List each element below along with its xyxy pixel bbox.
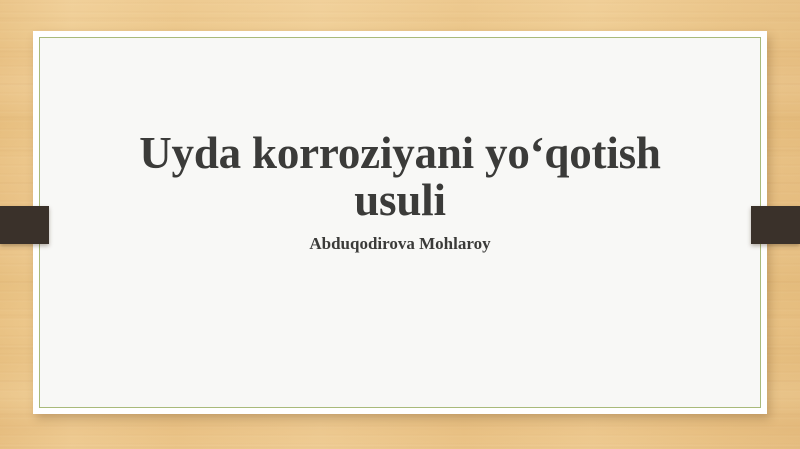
left-ribbon-tab bbox=[0, 206, 49, 244]
slide-content-card: Uyda korroziyani yoʻqotish usuli Abduqod… bbox=[33, 31, 767, 414]
page-title: Uyda korroziyani yoʻqotish usuli bbox=[100, 130, 700, 224]
presentation-slide: Uyda korroziyani yoʻqotish usuli Abduqod… bbox=[0, 0, 800, 449]
card-inner-border-frame: Uyda korroziyani yoʻqotish usuli Abduqod… bbox=[39, 37, 761, 408]
title-text-block: Uyda korroziyani yoʻqotish usuli Abduqod… bbox=[100, 130, 700, 254]
right-ribbon-tab bbox=[751, 206, 800, 244]
slide-subtitle-author: Abduqodirova Mohlaroy bbox=[100, 233, 700, 254]
